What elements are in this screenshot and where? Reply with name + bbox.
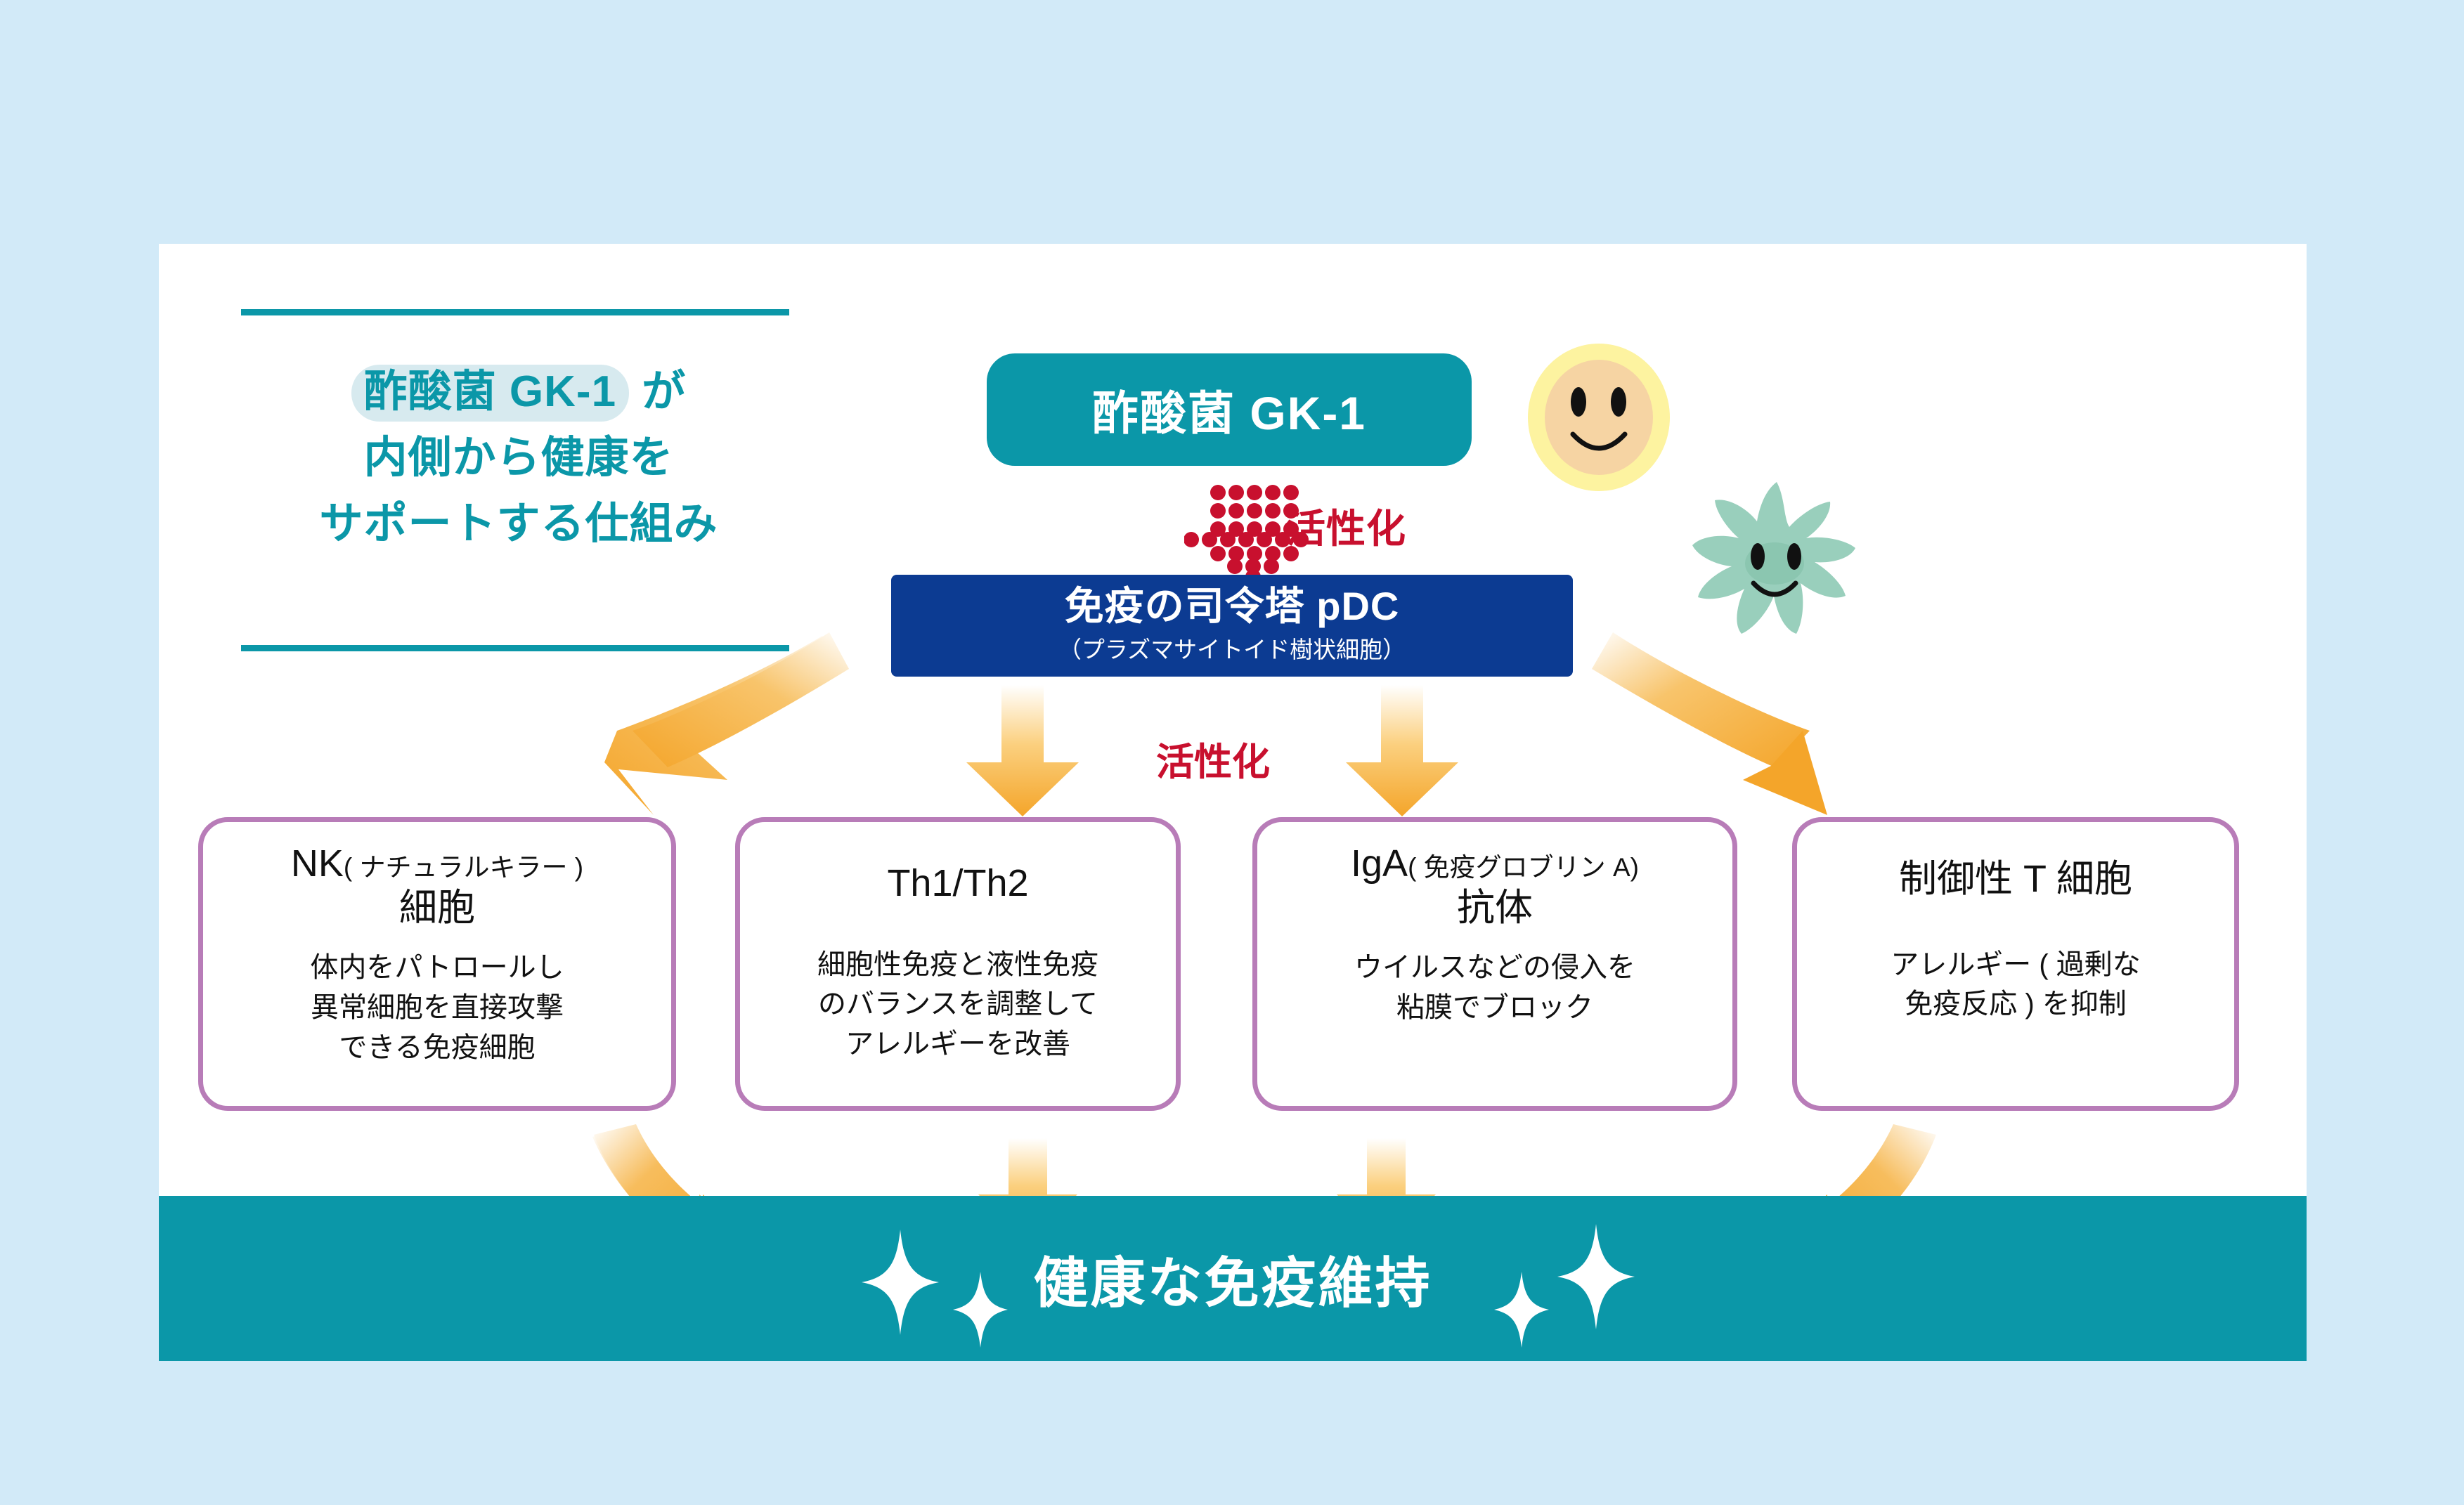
card-iga-title-paren: ( 免疫グロブリン A) bbox=[1408, 853, 1639, 882]
activation-label-mid: 活性化 bbox=[1156, 731, 1270, 786]
card-nk-desc-line: できる免疫細胞 bbox=[203, 1028, 671, 1068]
activation-label-top: 活性化 bbox=[1286, 497, 1406, 554]
card-th1th2-title-main: Th1/Th2 bbox=[740, 861, 1176, 906]
lead-heading-block: 酢酸菌 GK-1 が 内側から健康を サポートする仕組み bbox=[241, 309, 796, 558]
sparkle-icon bbox=[1494, 1272, 1549, 1348]
gk1-pill: 酢酸菌 GK-1 bbox=[987, 353, 1472, 466]
card-iga[interactable]: IgA( 免疫グロブリン A) 抗体 ウイルスなどの侵入を 粘膜でブロック bbox=[1252, 817, 1737, 1111]
card-treg-title: 制御性 T 細胞 bbox=[1797, 842, 2234, 901]
card-th1th2[interactable]: Th1/Th2 細胞性免疫と液性免疫 のバランスを調整して アレルギーを改善 bbox=[735, 817, 1181, 1111]
sparkle-icon bbox=[1557, 1224, 1635, 1329]
card-iga-desc: ウイルスなどの侵入を 粘膜でブロック bbox=[1257, 948, 1732, 1028]
banner-label: 健康な免疫維持 bbox=[1033, 1239, 1432, 1318]
sparkle-icon bbox=[862, 1230, 939, 1335]
pdc-subtitle: （プラズマサイトイド樹状細胞） bbox=[891, 631, 1573, 665]
card-iga-title: IgA( 免疫グロブリン A) 抗体 bbox=[1257, 842, 1732, 930]
sparkle-icon bbox=[953, 1272, 1008, 1348]
card-th1th2-desc-line: アレルギーを改善 bbox=[740, 1024, 1176, 1064]
card-treg[interactable]: 制御性 T 細胞 アレルギー ( 過剰な 免疫反応 ) を抑制 bbox=[1792, 817, 2239, 1111]
card-nk-title: NK( ナチュラルキラー ) 細胞 bbox=[203, 842, 671, 930]
card-iga-desc-line: ウイルスなどの侵入を bbox=[1257, 948, 1732, 988]
card-treg-desc-line: 免疫反応 ) を抑制 bbox=[1797, 984, 2234, 1024]
card-treg-title-main: 制御性 T 細胞 bbox=[1797, 857, 2234, 901]
card-nk-desc: 体内をパトロールし 異常細胞を直接攻撃 できる免疫細胞 bbox=[203, 948, 671, 1067]
immune-cards-row: NK( ナチュラルキラー ) 細胞 体内をパトロールし 異常細胞を直接攻撃 でき… bbox=[0, 817, 2464, 1112]
smiling-cell-mascot-icon bbox=[1526, 343, 1671, 495]
card-nk-title-main: NK bbox=[291, 842, 344, 885]
card-nk-desc-line: 体内をパトロールし bbox=[203, 948, 671, 988]
lead-line-1-suffix: が bbox=[629, 367, 686, 416]
card-th1th2-title: Th1/Th2 bbox=[740, 842, 1176, 906]
card-th1th2-desc: 細胞性免疫と液性免疫 のバランスを調整して アレルギーを改善 bbox=[740, 945, 1176, 1064]
infographic-root: 酢酸菌 GK-1 が 内側から健康を サポートする仕組み 酢酸菌 GK-1 活性… bbox=[0, 0, 2464, 1505]
card-iga-title-second: 抗体 bbox=[1257, 886, 1732, 930]
card-nk-desc-line: 異常細胞を直接攻撃 bbox=[203, 988, 671, 1028]
card-treg-desc-line: アレルギー ( 過剰な bbox=[1797, 945, 2234, 985]
smiling-dendritic-cell-mascot-icon bbox=[1687, 478, 1862, 643]
card-iga-desc-line: 粘膜でブロック bbox=[1257, 988, 1732, 1028]
card-nk-title-second: 細胞 bbox=[203, 886, 671, 930]
card-th1th2-desc-line: 細胞性免疫と液性免疫 bbox=[740, 945, 1176, 985]
lead-line-1: 酢酸菌 GK-1 が bbox=[241, 359, 796, 425]
gk1-pill-label: 酢酸菌 GK-1 bbox=[1092, 376, 1366, 443]
lead-highlight: 酢酸菌 GK-1 bbox=[351, 365, 629, 422]
lead-line-3: サポートする仕組み bbox=[241, 491, 796, 557]
pdc-box: 免疫の司令塔 pDC （プラズマサイトイド樹状細胞） bbox=[891, 575, 1573, 677]
heading-rule-top bbox=[241, 309, 789, 315]
card-treg-desc: アレルギー ( 過剰な 免疫反応 ) を抑制 bbox=[1797, 945, 2234, 1025]
card-nk[interactable]: NK( ナチュラルキラー ) 細胞 体内をパトロールし 異常細胞を直接攻撃 でき… bbox=[198, 817, 676, 1111]
heading-rule-bottom bbox=[241, 645, 789, 651]
lead-heading-text: 酢酸菌 GK-1 が 内側から健康を サポートする仕組み bbox=[241, 359, 796, 558]
card-nk-title-paren: ( ナチュラルキラー ) bbox=[344, 853, 583, 882]
bottom-banner: 健康な免疫維持 bbox=[159, 1196, 2307, 1361]
pdc-title: 免疫の司令塔 pDC bbox=[891, 585, 1573, 628]
lead-line-2: 内側から健康を bbox=[241, 425, 796, 491]
card-iga-title-main: IgA bbox=[1351, 842, 1408, 885]
card-th1th2-desc-line: のバランスを調整して bbox=[740, 984, 1176, 1024]
